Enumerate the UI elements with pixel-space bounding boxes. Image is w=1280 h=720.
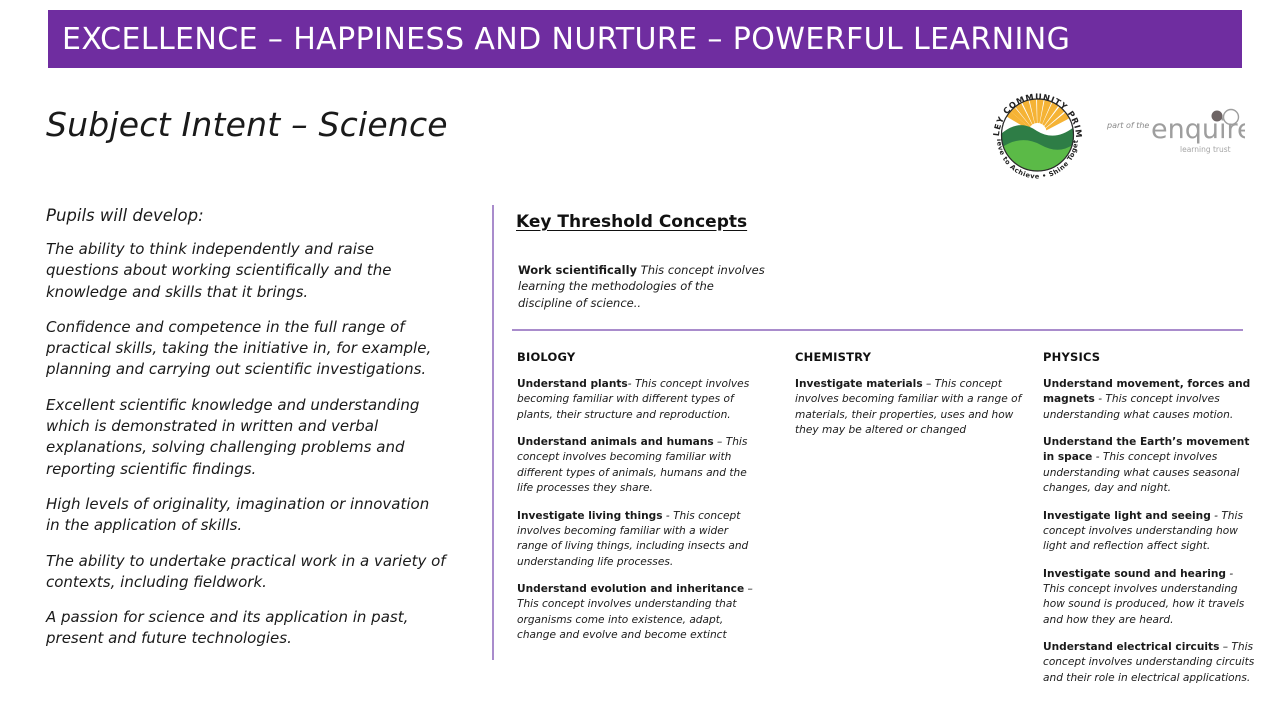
concept-term: Understand electrical circuits xyxy=(1043,641,1219,653)
left-paragraph-6: A passion for science and its applicatio… xyxy=(46,607,446,650)
concept-investigate-materials: Investigate materials – This concept inv… xyxy=(795,377,1030,438)
logo-area: GODLEY COMMUNITY PRIMARY Believe to Achi… xyxy=(985,82,1250,187)
left-paragraph-2: Confidence and competence in the full ra… xyxy=(46,317,446,381)
pupils-will-develop-section: Pupils will develop: The ability to thin… xyxy=(46,206,446,664)
column-title-physics: PHYSICS xyxy=(1043,350,1258,364)
banner-title: EXCELLENCE – HAPPINESS AND NURTURE – POW… xyxy=(48,22,1070,57)
column-biology: BIOLOGY Understand plants- This concept … xyxy=(517,350,762,655)
work-scientifically-term: Work scientifically xyxy=(518,263,637,277)
concept-term: Investigate sound and hearing xyxy=(1043,568,1226,580)
concept-term: Understand plants xyxy=(517,378,628,390)
concept-understand-earths-movement-in-space: Understand the Earth’s movement in space… xyxy=(1043,435,1258,496)
left-paragraph-1: The ability to think independently and r… xyxy=(46,239,446,303)
concept-investigate-living-things: Investigate living things - This concept… xyxy=(517,509,762,570)
left-paragraph-5: The ability to undertake practical work … xyxy=(46,551,446,594)
header-banner: EXCELLENCE – HAPPINESS AND NURTURE – POW… xyxy=(48,10,1242,68)
concept-understand-electrical-circuits: Understand electrical circuits – This co… xyxy=(1043,640,1258,686)
left-column-heading: Pupils will develop: xyxy=(46,206,446,225)
concept-understand-plants: Understand plants- This concept involves… xyxy=(517,377,762,423)
concept-understand-evolution-and-inheritance: Understand evolution and inheritance – T… xyxy=(517,582,762,643)
key-threshold-concepts-heading: Key Threshold Concepts xyxy=(516,212,747,232)
concept-term: Understand evolution and inheritance xyxy=(517,583,744,595)
godley-community-primary-logo: GODLEY COMMUNITY PRIMARY Believe to Achi… xyxy=(985,82,1090,187)
concept-term: Investigate materials xyxy=(795,378,923,390)
left-paragraph-4: High levels of originality, imagination … xyxy=(46,494,446,537)
column-chemistry: CHEMISTRY Investigate materials – This c… xyxy=(795,350,1030,450)
page-title: Subject Intent – Science xyxy=(46,105,448,144)
vertical-divider xyxy=(492,205,494,660)
column-physics: PHYSICS Understand movement, forces and … xyxy=(1043,350,1258,698)
concept-investigate-sound-and-hearing: Investigate sound and hearing - This con… xyxy=(1043,567,1258,628)
concept-understand-movement-forces-and-magnets: Understand movement, forces and magnets … xyxy=(1043,377,1258,423)
left-paragraph-3: Excellent scientific knowledge and under… xyxy=(46,395,446,480)
column-title-biology: BIOLOGY xyxy=(517,350,762,364)
horizontal-divider xyxy=(512,329,1243,331)
trust-logo-tagline: learning trust xyxy=(1180,145,1231,154)
concept-investigate-light-and-seeing: Investigate light and seeing - This conc… xyxy=(1043,509,1258,555)
concept-term: Investigate light and seeing xyxy=(1043,510,1211,522)
concept-term: Investigate living things xyxy=(517,510,663,522)
work-scientifically-concept: Work scientifically This concept involve… xyxy=(518,262,766,311)
trust-logo-wordmark: enquire xyxy=(1151,114,1245,145)
slide-canvas: EXCELLENCE – HAPPINESS AND NURTURE – POW… xyxy=(0,0,1280,720)
trust-logo-prefix: part of the xyxy=(1106,121,1149,130)
column-title-chemistry: CHEMISTRY xyxy=(795,350,1030,364)
enquire-learning-trust-logo: part of the enquire learning trust xyxy=(1105,106,1245,162)
concept-term: Understand animals and humans xyxy=(517,436,714,448)
concept-understand-animals-and-humans: Understand animals and humans – This con… xyxy=(517,435,762,496)
